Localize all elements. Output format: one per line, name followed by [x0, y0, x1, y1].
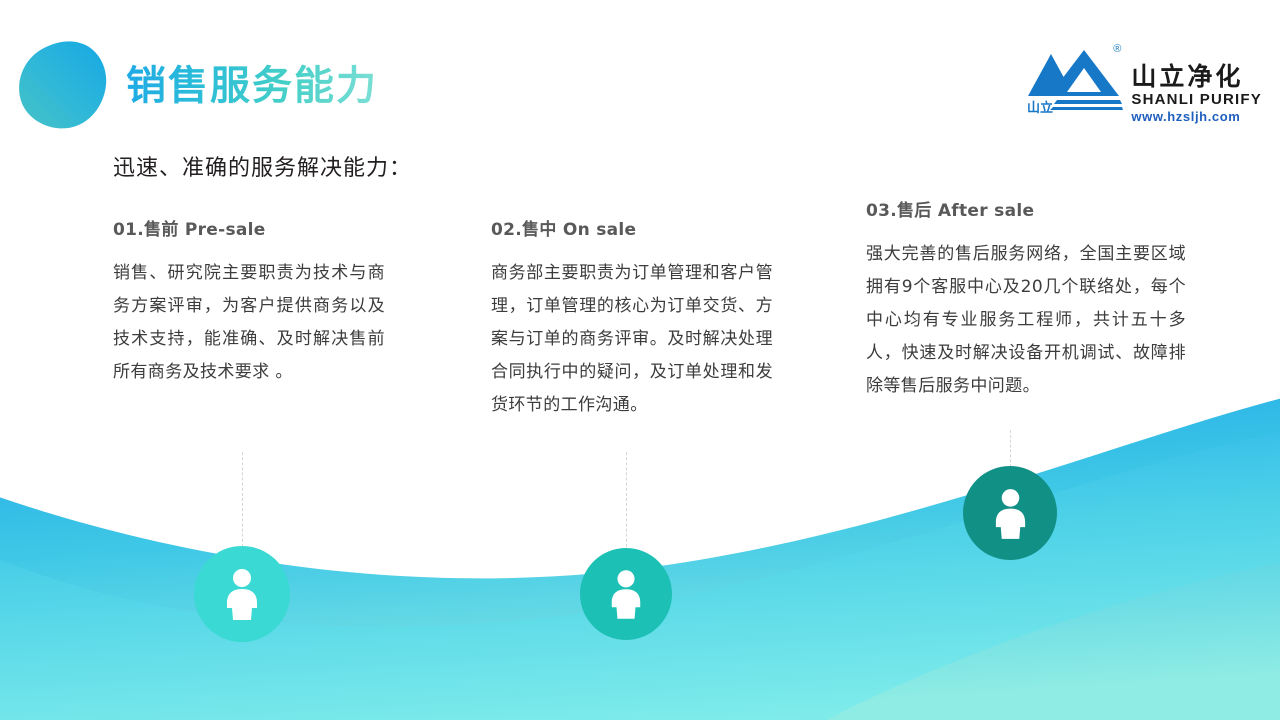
twin-mountain-logo-mark-icon: 山立 ® [1027, 44, 1123, 114]
connector-line-2 [626, 452, 627, 552]
column-body: 商务部主要职责为订单管理和客户管理，订单管理的核心为订单交货、方案与订单的商务评… [491, 257, 773, 422]
column-pre-sale: 01.售前 Pre-sale 销售、研究院主要职责为技术与商务方案评审，为客户提… [113, 215, 385, 389]
column-heading: 02.售中 On sale [491, 215, 773, 240]
slide-header: 销售服务能力 山立 ® 山立净化 SHANLI PURIFY www.hzslj… [0, 0, 1280, 140]
column-body: 强大完善的售后服务网络，全国主要区域拥有9个客服中心及20几个联络处，每个中心均… [866, 238, 1186, 403]
slide-canvas: 销售服务能力 山立 ® 山立净化 SHANLI PURIFY www.hzslj… [0, 0, 1280, 720]
connector-line-1 [242, 452, 243, 552]
svg-text:山立: 山立 [1027, 100, 1053, 114]
column-body: 销售、研究院主要职责为技术与商务方案评审，为客户提供商务以及技术支持，能准确、及… [113, 257, 385, 389]
organic-blob-decoration [18, 41, 108, 129]
logo-company-cn: 山立净化 [1131, 64, 1262, 89]
page-title: 销售服务能力 [126, 59, 378, 113]
column-heading: 01.售前 Pre-sale [113, 215, 385, 240]
person-icon [222, 568, 262, 620]
person-icon [991, 488, 1030, 539]
column-on-sale: 02.售中 On sale 商务部主要职责为订单管理和客户管理，订单管理的核心为… [491, 215, 773, 422]
logo-company-en: SHANLI PURIFY [1131, 92, 1262, 107]
registered-trademark-icon: ® [1113, 44, 1121, 55]
column-after-sale: 03.售后 After sale 强大完善的售后服务网络，全国主要区域拥有9个客… [866, 196, 1186, 403]
node-on-sale[interactable] [580, 548, 672, 640]
section-subtitle: 迅速、准确的服务解决能力： [113, 150, 412, 182]
company-logo: 山立 ® 山立净化 SHANLI PURIFY www.hzsljh.com [1027, 44, 1262, 123]
column-heading: 03.售后 After sale [866, 196, 1186, 221]
logo-wordmark: 山立净化 SHANLI PURIFY www.hzsljh.com [1131, 44, 1262, 123]
node-after-sale[interactable] [963, 466, 1057, 560]
node-pre-sale[interactable] [194, 546, 290, 642]
person-icon [607, 569, 645, 619]
logo-website: www.hzsljh.com [1131, 110, 1262, 123]
